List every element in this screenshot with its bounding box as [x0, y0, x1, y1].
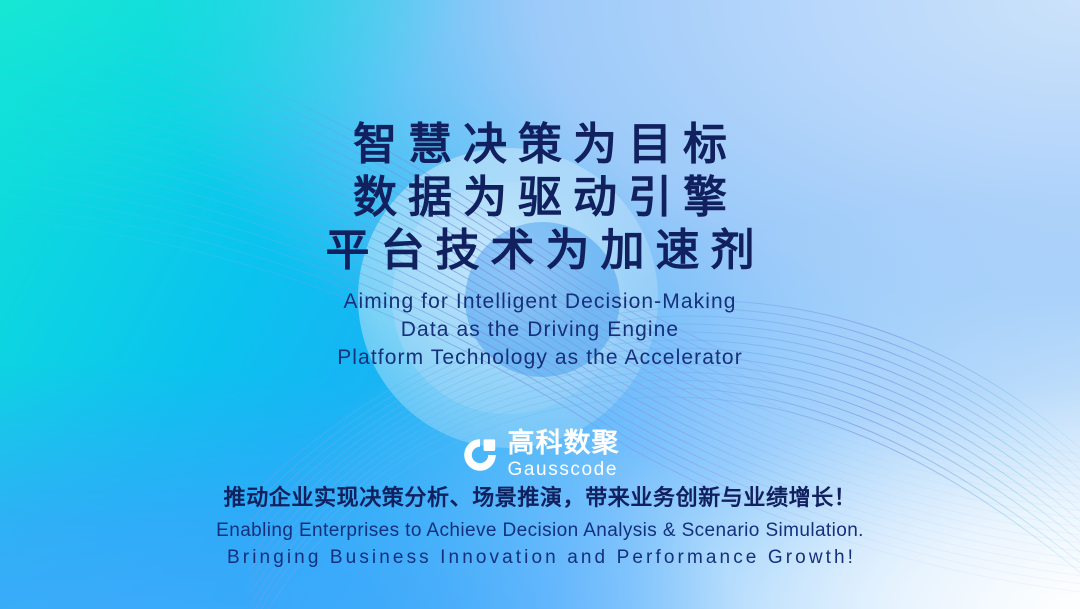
- headline-block: 智慧决策为目标 数据为驱动引擎 平台技术为加速剂: [0, 118, 1080, 277]
- tagline-chinese: 推动企业实现决策分析、场景推演，带来业务创新与业绩增长！: [0, 483, 1080, 513]
- headline-line-3: 平台技术为加速剂: [0, 224, 1080, 277]
- subheadline-line-2: Data as the Driving Engine: [0, 316, 1080, 344]
- tagline-english-line-1: Enabling Enterprises to Achieve Decision…: [0, 517, 1080, 544]
- slide-content: 智慧决策为目标 数据为驱动引擎 平台技术为加速剂 Aiming for Inte…: [0, 0, 1080, 609]
- subheadline-line-3: Platform Technology as the Accelerator: [0, 344, 1080, 372]
- footer-block: 推动企业实现决策分析、场景推演，带来业务创新与业绩增长！ Enabling En…: [0, 483, 1080, 571]
- subheadline-line-1: Aiming for Intelligent Decision-Making: [0, 288, 1080, 316]
- company-logo: 高科数聚 Gausscode: [0, 430, 1080, 479]
- logo-name-cn: 高科数聚: [508, 430, 620, 457]
- headline-line-1: 智慧决策为目标: [0, 118, 1080, 171]
- gausscode-ring-icon: [461, 436, 499, 474]
- headline-line-2: 数据为驱动引擎: [0, 171, 1080, 224]
- presentation-slide: 智慧决策为目标 数据为驱动引擎 平台技术为加速剂 Aiming for Inte…: [0, 0, 1080, 609]
- tagline-english-line-2: Bringing Business Innovation and Perform…: [0, 544, 1080, 571]
- logo-wordmark: 高科数聚 Gausscode: [508, 430, 620, 479]
- subheadline-block: Aiming for Intelligent Decision-Making D…: [0, 288, 1080, 372]
- logo-name-en: Gausscode: [508, 460, 619, 479]
